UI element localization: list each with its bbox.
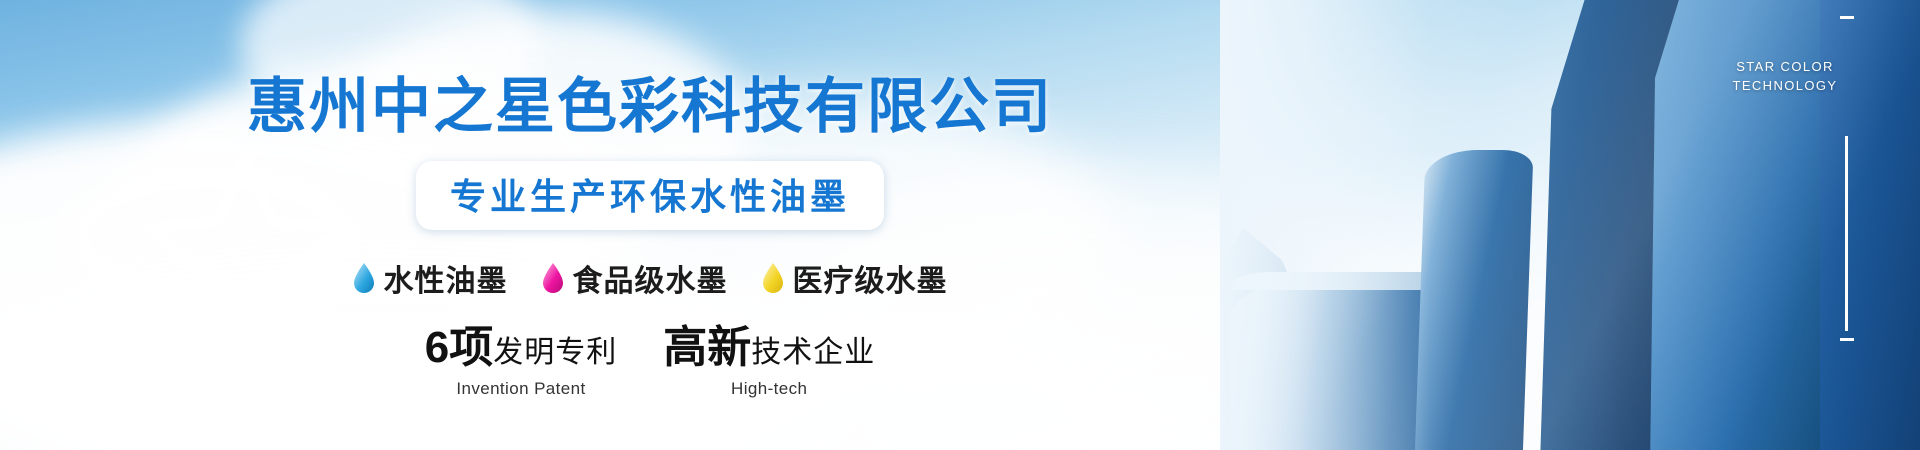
promo-banner: Star Color STAR COLOR TECHNOLOGY 惠州中之星色彩… bbox=[0, 0, 1920, 450]
tagline-wrap: 专业生产环保水性油墨 bbox=[0, 161, 1300, 230]
tech-mark-line1: STAR COLOR bbox=[1710, 58, 1860, 77]
tagline-pill: 专业生产环保水性油墨 bbox=[416, 161, 884, 230]
credential-highlight: 高新 bbox=[663, 323, 751, 372]
water-drop-icon bbox=[542, 263, 564, 293]
feature-label: 水性油墨 bbox=[384, 256, 508, 300]
water-drop-icon bbox=[762, 263, 784, 293]
credential-item: 高新技术企业 High-tech bbox=[663, 326, 875, 399]
water-drop-icon bbox=[353, 263, 375, 293]
feature-item: 医疗级水墨 bbox=[762, 256, 948, 300]
feature-list: 水性油墨 食品级水墨 bbox=[0, 256, 1300, 300]
banner-content: 惠州中之星色彩科技有限公司 专业生产环保水性油墨 水性油墨 bbox=[0, 0, 1300, 450]
credential-rest: 发明专利 bbox=[493, 336, 617, 369]
credential-chinese: 高新技术企业 bbox=[663, 326, 875, 370]
feature-item: 水性油墨 bbox=[353, 256, 508, 300]
building-mid-tower bbox=[1415, 150, 1534, 450]
feature-item: 食品级水墨 bbox=[542, 256, 728, 300]
credential-chinese: 6项发明专利 bbox=[425, 326, 617, 370]
vertical-rule bbox=[1845, 136, 1848, 331]
credentials-list: 6项发明专利 Invention Patent 高新技术企业 High-tech bbox=[0, 326, 1300, 399]
credential-item: 6项发明专利 Invention Patent bbox=[425, 326, 617, 399]
tech-mark-line2: TECHNOLOGY bbox=[1710, 77, 1860, 96]
credential-english: Invention Patent bbox=[425, 379, 617, 399]
company-title: 惠州中之星色彩科技有限公司 bbox=[0, 0, 1300, 145]
credential-english: High-tech bbox=[663, 379, 875, 399]
credential-highlight: 6项 bbox=[425, 323, 493, 372]
tick-mark-top bbox=[1840, 16, 1854, 19]
feature-label: 医疗级水墨 bbox=[793, 256, 948, 300]
tick-mark-bottom bbox=[1840, 338, 1854, 341]
credential-rest: 技术企业 bbox=[751, 336, 875, 369]
feature-label: 食品级水墨 bbox=[573, 256, 728, 300]
tech-mark: STAR COLOR TECHNOLOGY bbox=[1710, 58, 1860, 96]
